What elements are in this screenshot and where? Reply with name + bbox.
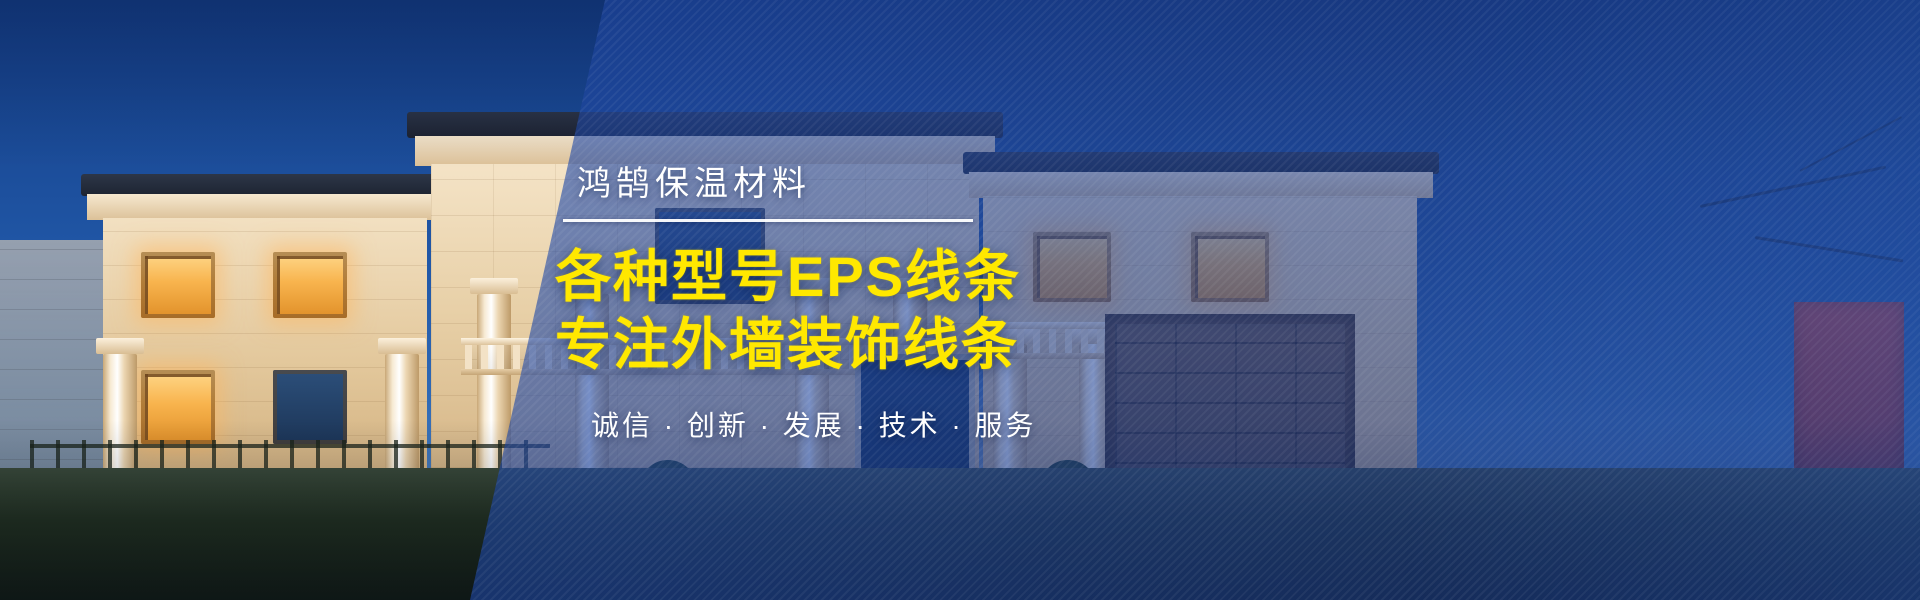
headline-line-2: 专注外墙装饰线条 — [555, 312, 1195, 378]
tagline: 诚信 · 创新 · 发展 · 技术 · 服务 — [591, 404, 1195, 444]
hero-banner: 鸿鹄保温材料 各种型号EPS线条 专注外墙装饰线条 诚信 · 创新 · 发展 ·… — [0, 0, 1920, 600]
divider-rule — [563, 219, 973, 222]
banner-text-block: 鸿鹄保温材料 各种型号EPS线条 专注外墙装饰线条 诚信 · 创新 · 发展 ·… — [555, 0, 1195, 600]
headline-line-1: 各种型号EPS线条 — [555, 244, 1195, 310]
brand-name: 鸿鹄保温材料 — [577, 156, 1195, 205]
